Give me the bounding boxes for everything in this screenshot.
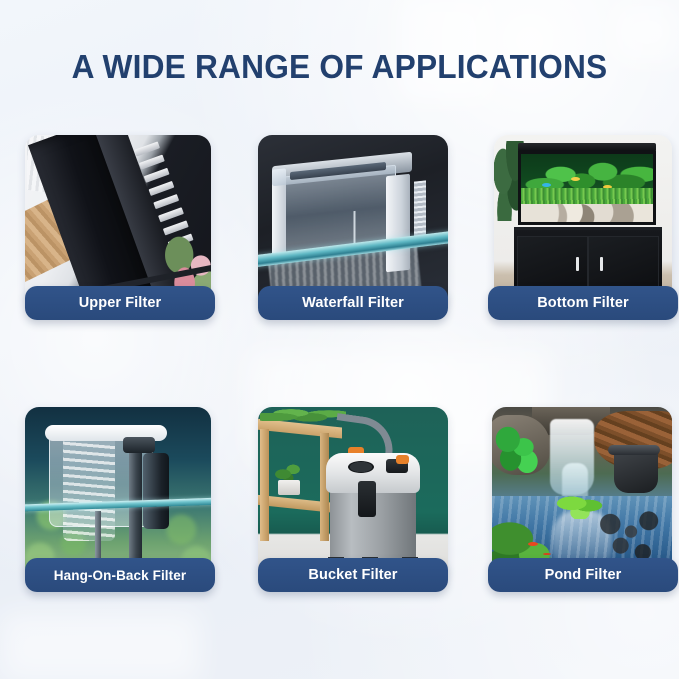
gravel-substrate [521, 204, 653, 222]
potted-plant [274, 463, 304, 495]
hang-on-back-filter-image [25, 407, 211, 582]
cabinet-handles [514, 227, 662, 295]
application-card-waterfall-filter[interactable]: Waterfall Filter [258, 135, 448, 320]
applications-row-1: Upper Filter [0, 120, 679, 405]
application-card-upper-filter[interactable]: Upper Filter [25, 135, 215, 320]
bottom-filter-image [494, 135, 672, 310]
lily-pad [554, 491, 606, 519]
pond-pump [614, 449, 658, 493]
koi-fish [528, 542, 538, 546]
filter-right-column [386, 174, 410, 273]
green-foliage [494, 425, 540, 473]
upper-filter-image [25, 135, 211, 310]
falling-water [63, 441, 115, 541]
applications-grid: Upper Filter [0, 120, 679, 679]
bucket-filter-image [258, 407, 448, 582]
application-card-pond-filter[interactable]: Pond Filter [488, 407, 678, 592]
card-label-hang-on-back-filter: Hang-On-Back Filter [25, 558, 215, 592]
pond-filter-image [492, 407, 672, 582]
card-label-upper-filter: Upper Filter [25, 286, 215, 320]
canister-latch [358, 481, 376, 517]
applications-row-2: Hang-On-Back Filter [0, 405, 679, 679]
application-card-bottom-filter[interactable]: Bottom Filter [488, 135, 678, 320]
application-card-bucket-filter[interactable]: Bucket Filter [258, 407, 448, 592]
shelf-plants [260, 407, 346, 425]
card-label-pond-filter: Pond Filter [488, 558, 678, 592]
aquarium-tank [518, 151, 656, 225]
filter-motor-body [143, 453, 169, 529]
outlet-nozzle [123, 437, 155, 453]
waterfall-filter-image [258, 135, 448, 310]
card-label-bucket-filter: Bucket Filter [258, 558, 448, 592]
card-label-waterfall-filter: Waterfall Filter [258, 286, 448, 320]
card-label-bottom-filter: Bottom Filter [488, 286, 678, 320]
page-title: A WIDE RANGE OF APPLICATIONS [14, 48, 666, 86]
applications-page: A WIDE RANGE OF APPLICATIONS [0, 0, 679, 679]
application-card-hang-on-back-filter[interactable]: Hang-On-Back Filter [25, 407, 215, 592]
primer-button [396, 455, 409, 464]
